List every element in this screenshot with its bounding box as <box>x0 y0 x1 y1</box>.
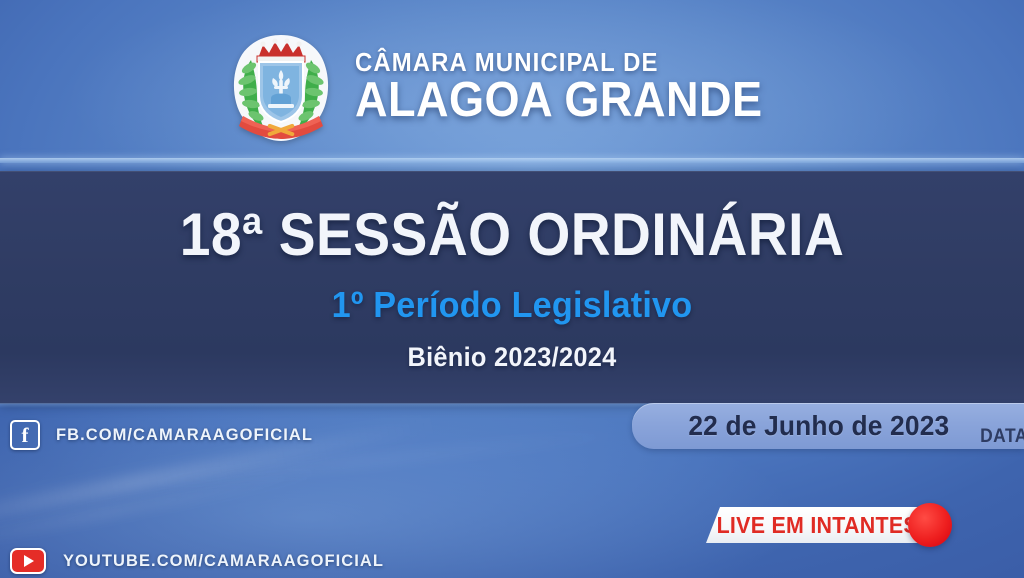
session-subtitle: 1º Período Legislativo <box>26 287 999 323</box>
live-badge-label: LIVE EM INTANTES <box>716 512 917 539</box>
session-biennium: Biênio 2023/2024 <box>31 344 994 371</box>
brand-header: CÂMARA MUNICIPAL DE ALAGOA GRANDE <box>0 28 1024 148</box>
live-dot-icon <box>908 503 952 547</box>
brand-text: CÂMARA MUNICIPAL DE ALAGOA GRANDE <box>355 49 798 127</box>
brand-line-2: ALAGOA GRANDE <box>355 75 763 127</box>
coat-of-arms-icon <box>227 32 335 144</box>
broadcast-slide: CÂMARA MUNICIPAL DE ALAGOA GRANDE 18ª SE… <box>0 0 1024 578</box>
youtube-url-label: YOUTUBE.COM/CAMARAAGOFICIAL <box>63 551 384 571</box>
youtube-icon <box>10 548 46 574</box>
session-date: 22 de Junho de 2023 <box>688 410 949 442</box>
facebook-link[interactable]: f FB.COM/CAMARAAGOFICIAL <box>10 420 317 450</box>
live-badge: LIVE EM INTANTES <box>706 507 928 543</box>
facebook-icon: f <box>10 420 40 450</box>
session-title: 18ª SESSÃO ORDINÁRIA <box>41 205 983 265</box>
facebook-glyph: f <box>22 425 29 446</box>
header-divider <box>0 158 1024 163</box>
date-panel: 22 de Junho de 2023 DATA <box>632 403 1024 449</box>
light-streak <box>0 463 337 555</box>
play-triangle-icon <box>24 555 34 567</box>
facebook-url-label: FB.COM/CAMARAAGOFICIAL <box>56 425 313 445</box>
date-panel-label: DATA <box>980 426 1024 448</box>
brand-line-1: CÂMARA MUNICIPAL DE <box>355 49 763 75</box>
youtube-link[interactable]: YOUTUBE.COM/CAMARAAGOFICIAL <box>10 548 389 574</box>
